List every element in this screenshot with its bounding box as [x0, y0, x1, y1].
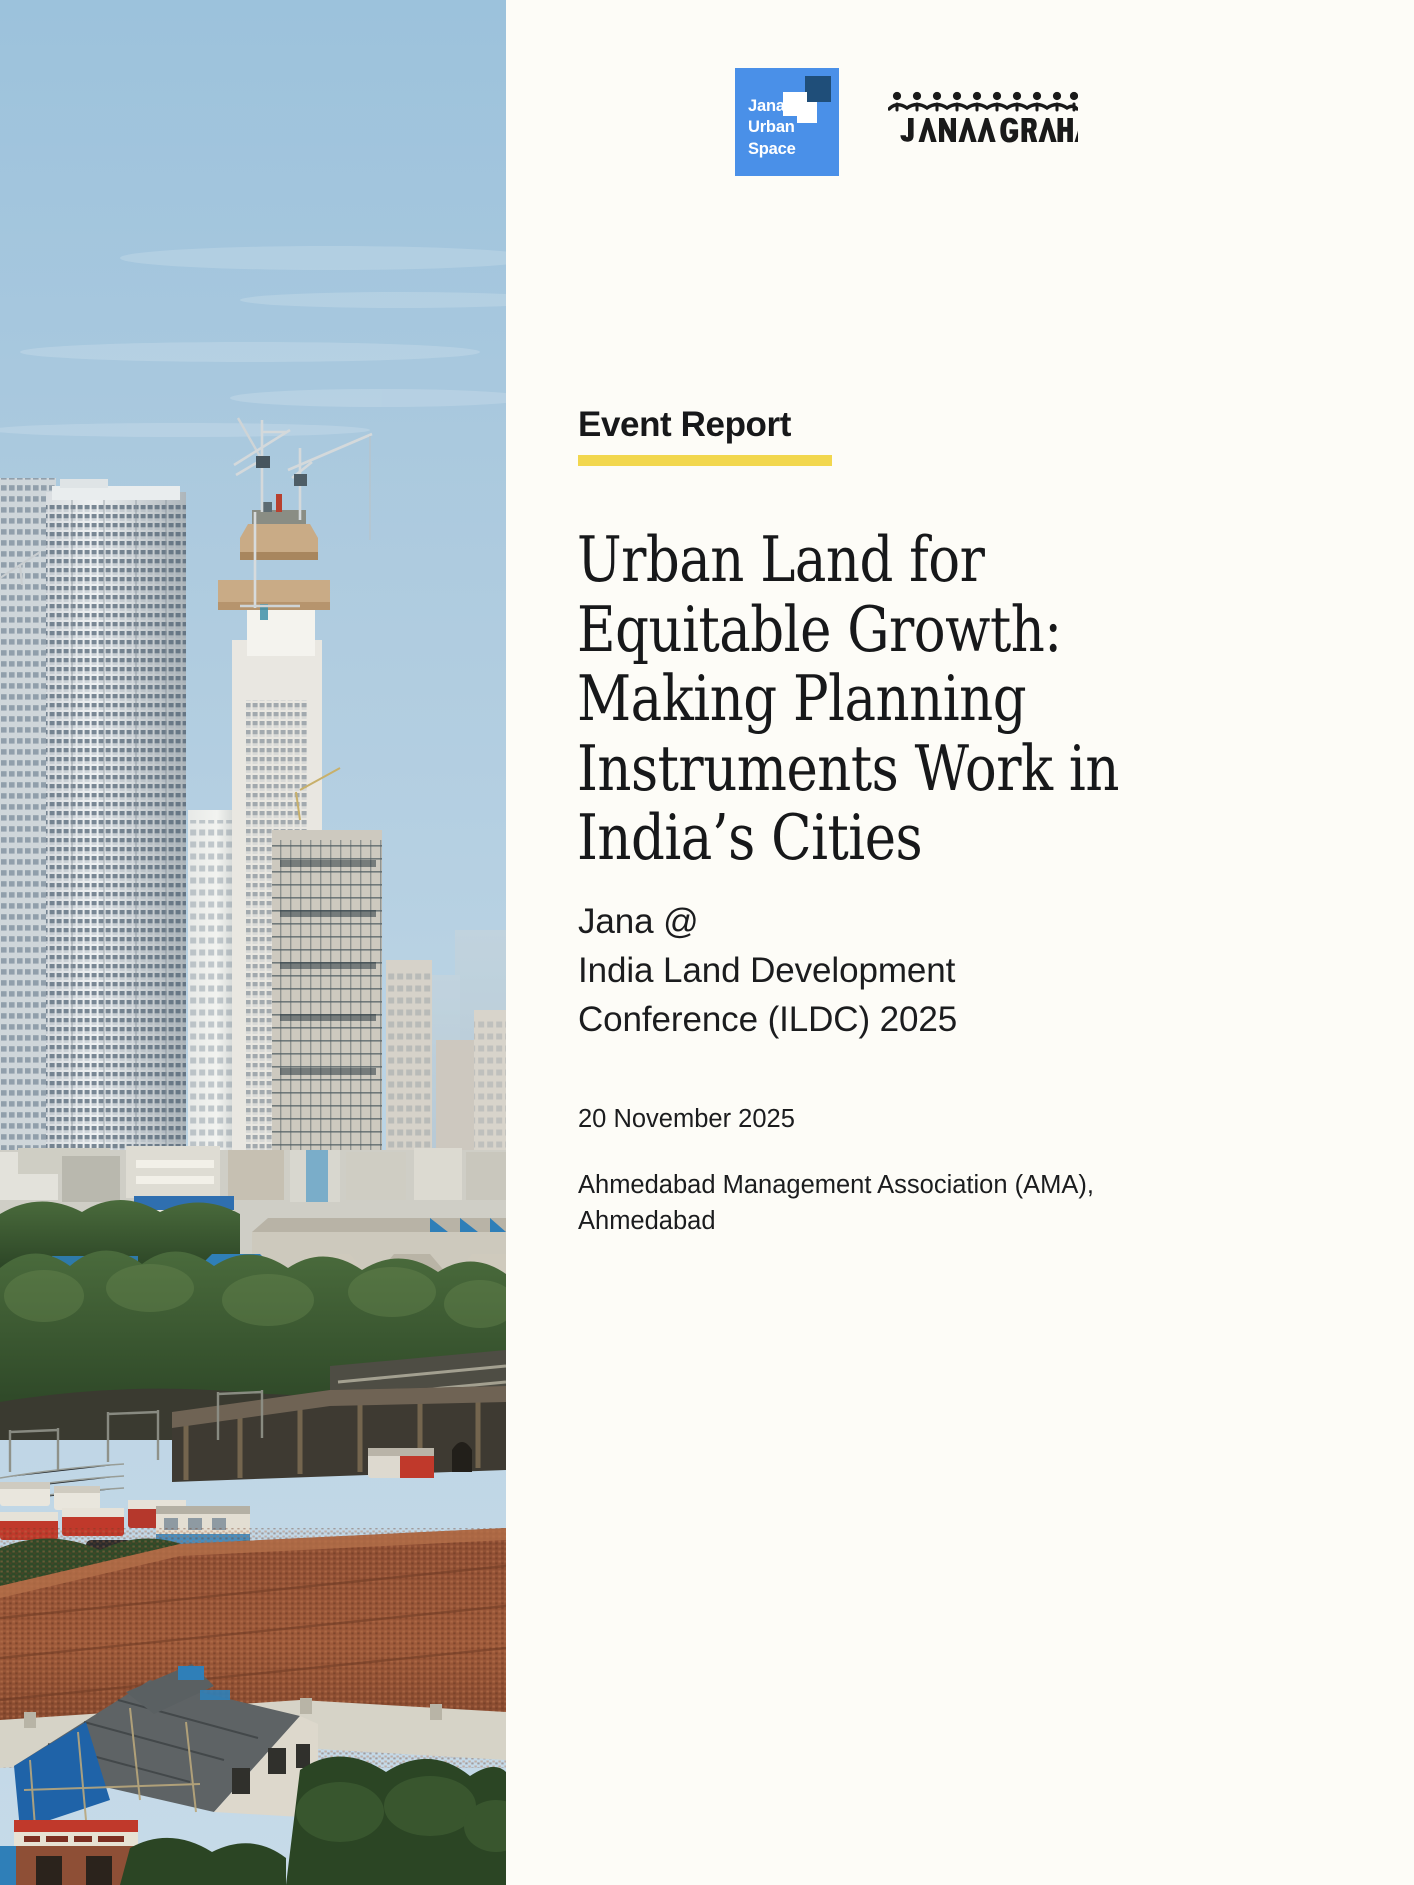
jus-line-2: Urban [748, 117, 796, 138]
content-panel: Jana Urban Space [506, 0, 1414, 1885]
cover-photograph [0, 0, 506, 1885]
jus-line-1: Jana [748, 96, 796, 117]
page-title: Urban Land for Equitable Growth: Making … [577, 525, 1249, 873]
event-report-underline [578, 455, 832, 466]
page-subtitle: Jana @ India Land Development Conference… [578, 897, 1278, 1044]
janaagraha-logo [888, 90, 1078, 146]
jus-line-3: Space [748, 139, 796, 160]
jana-urban-space-wordmark: Jana Urban Space [748, 96, 796, 160]
jana-urban-space-logo: Jana Urban Space [735, 68, 839, 176]
event-venue: Ahmedabad Management Association (AMA), … [578, 1168, 1258, 1239]
logo-row: Jana Urban Space [506, 68, 1414, 188]
event-report-label: Event Report [578, 407, 832, 442]
event-date: 20 November 2025 [578, 1105, 795, 1134]
event-report-block: Event Report [578, 407, 832, 466]
cover-page: Jana Urban Space [0, 0, 1414, 1885]
